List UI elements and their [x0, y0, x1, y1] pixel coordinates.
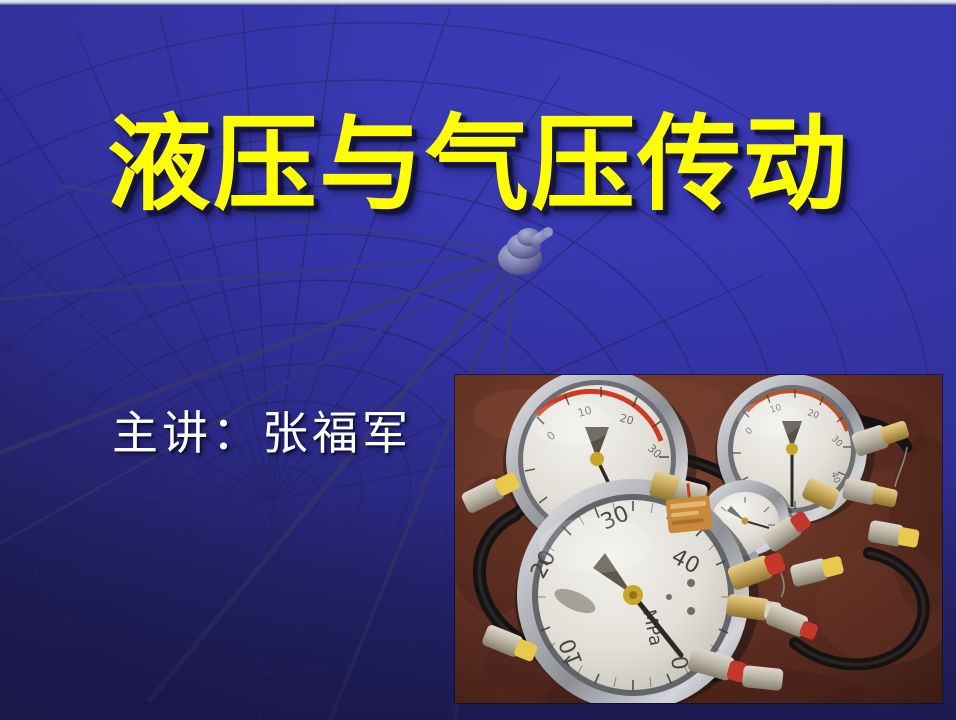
pressure-gauges-illustration: 0 10 20 30 40	[455, 375, 942, 703]
slide-presenter: 主讲：张福军	[112, 408, 412, 459]
top-light-strip	[0, 0, 956, 5]
pressure-gauges-photo: 0 10 20 30 40	[455, 375, 942, 703]
slide-title: 液压与气压传动	[0, 108, 956, 220]
presentation-slide: 液压与气压传动 主讲：张福军	[0, 0, 956, 720]
